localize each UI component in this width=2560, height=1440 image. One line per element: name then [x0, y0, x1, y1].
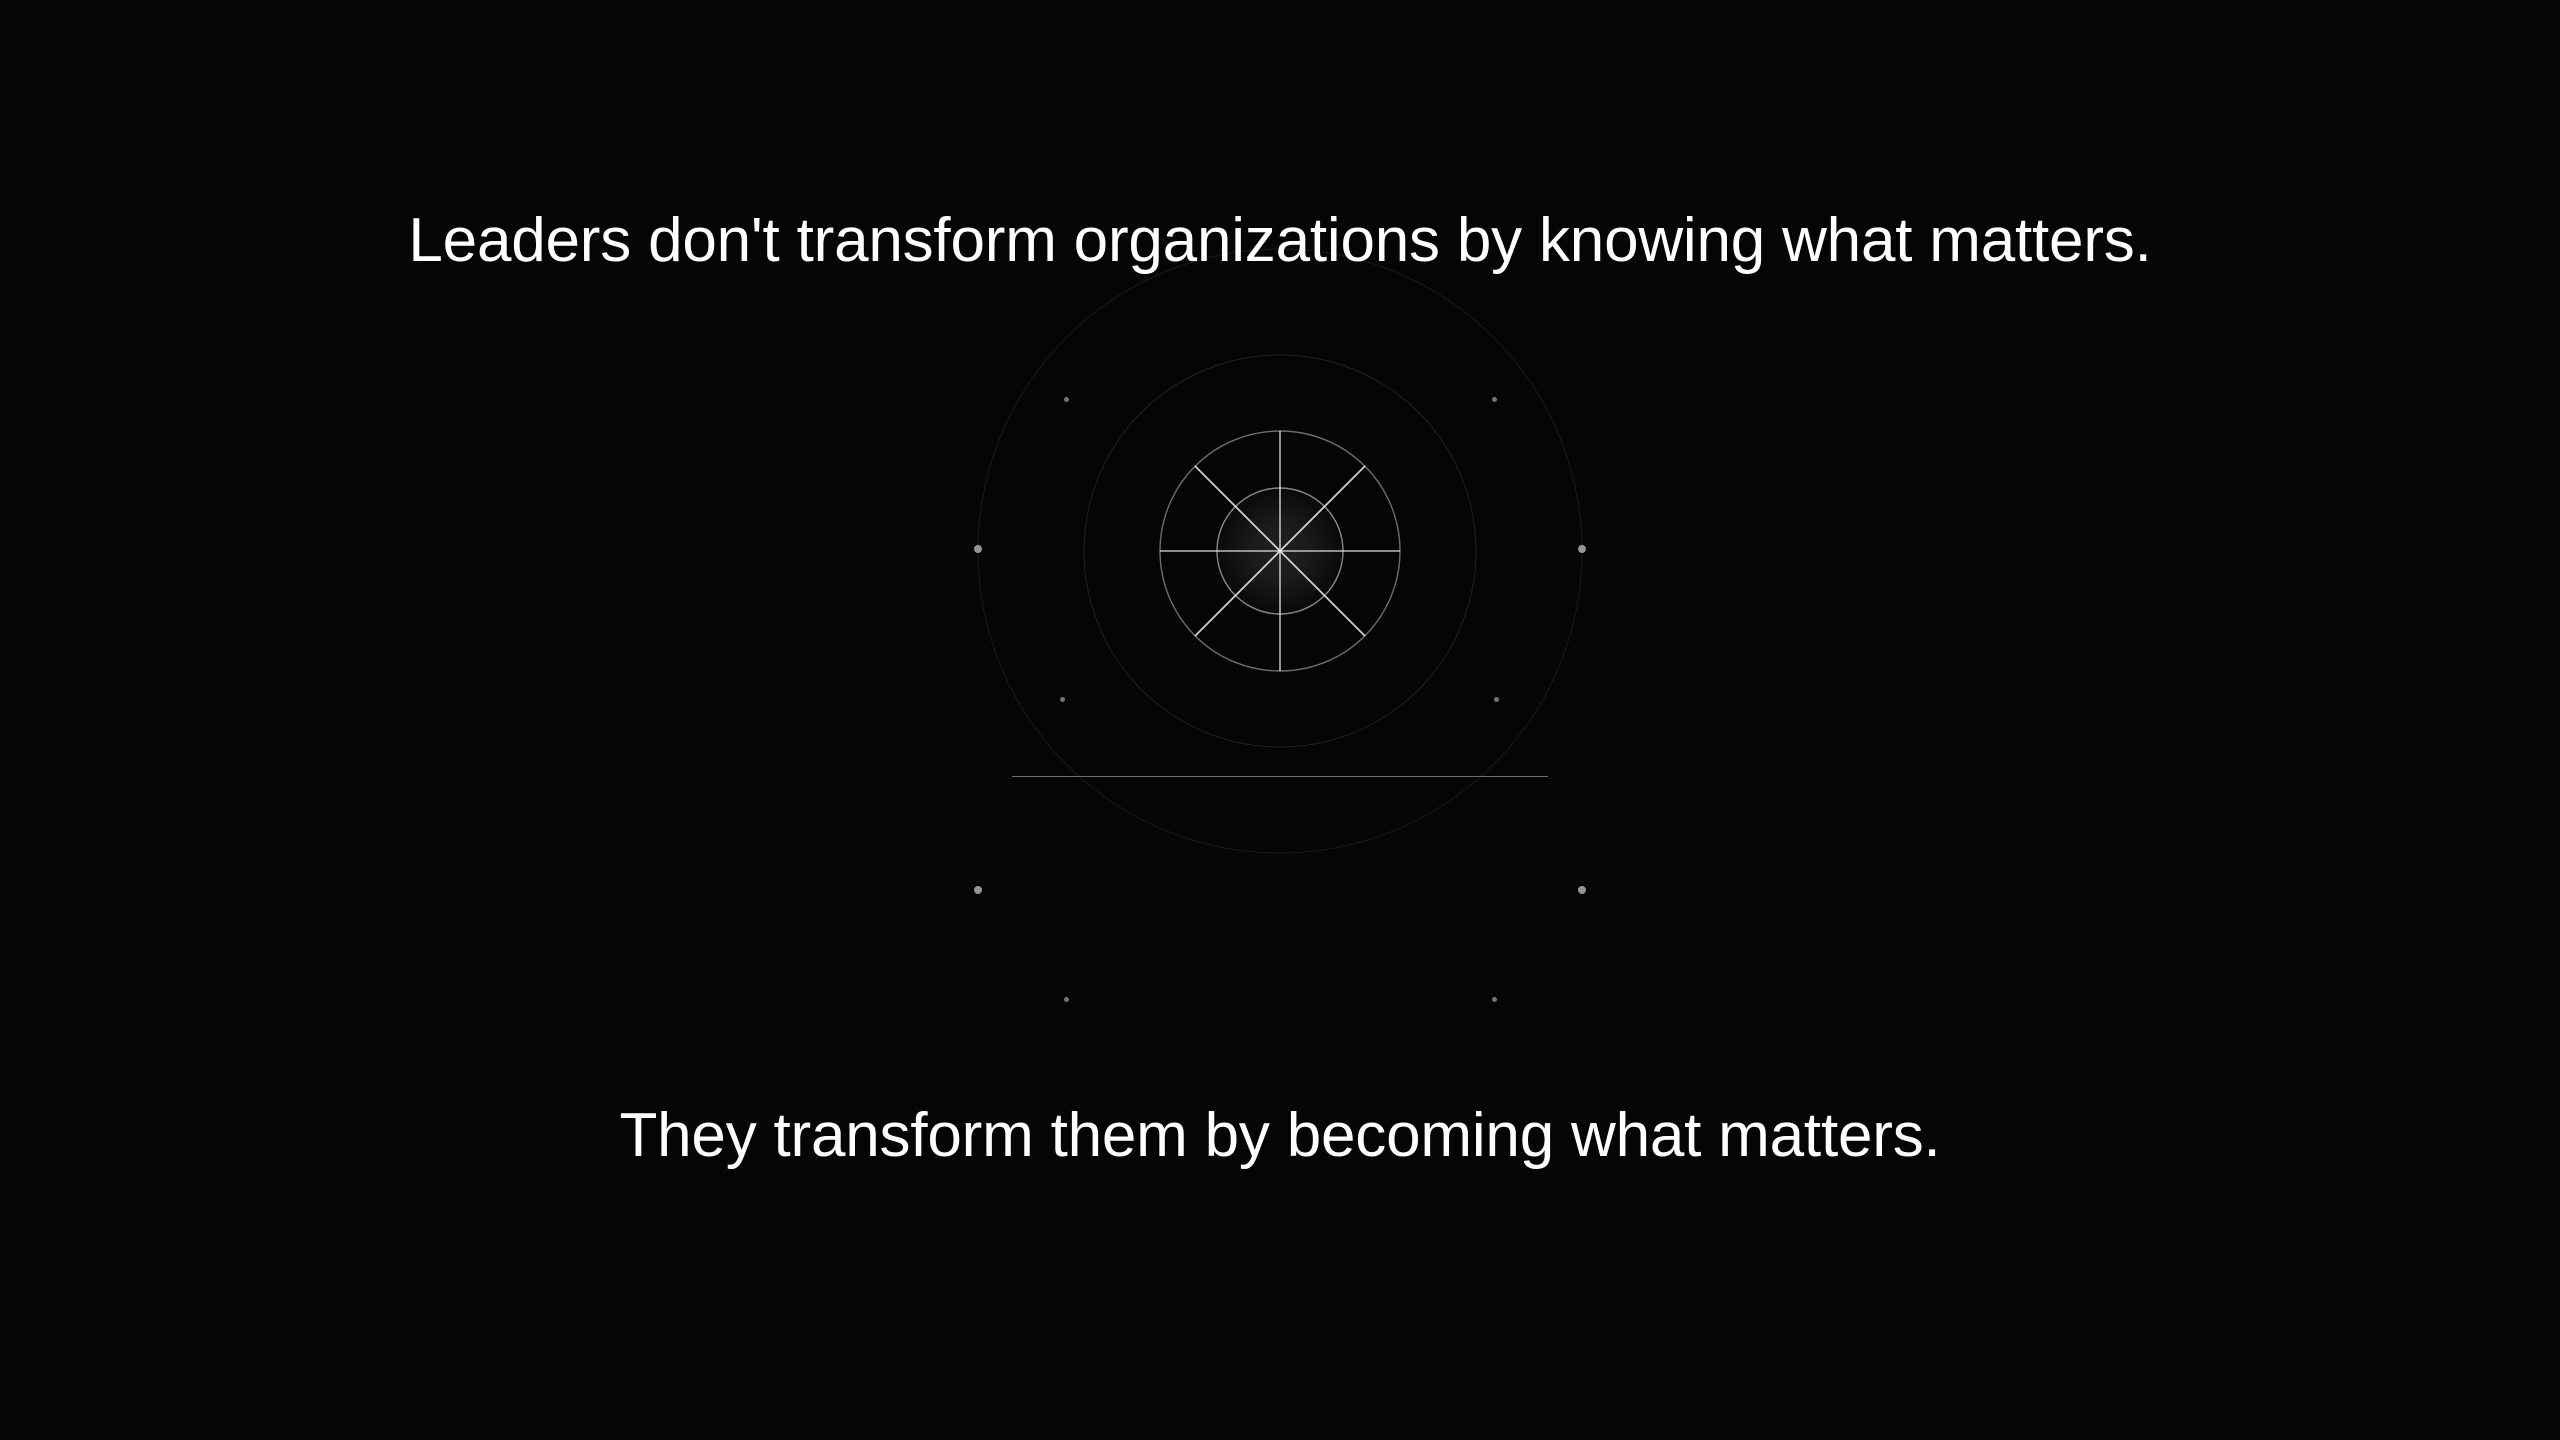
scatter-dot: [1578, 886, 1586, 894]
scatter-dot: [1494, 697, 1499, 702]
scatter-dot: [1578, 545, 1586, 553]
baseline-rule: [1012, 776, 1548, 777]
scatter-dot: [1492, 997, 1497, 1002]
scatter-dot: [1060, 697, 1065, 702]
emblem-svg: [880, 151, 1680, 951]
scatter-dot: [1064, 997, 1069, 1002]
scatter-dot: [1064, 397, 1069, 402]
scatter-dot: [974, 545, 982, 553]
quote-line-bottom: They transform them by becoming what mat…: [0, 1100, 2560, 1171]
scatter-dot: [1492, 397, 1497, 402]
scatter-dot: [974, 886, 982, 894]
slide-canvas: Leaders don't transform organizations by…: [0, 0, 2560, 1440]
